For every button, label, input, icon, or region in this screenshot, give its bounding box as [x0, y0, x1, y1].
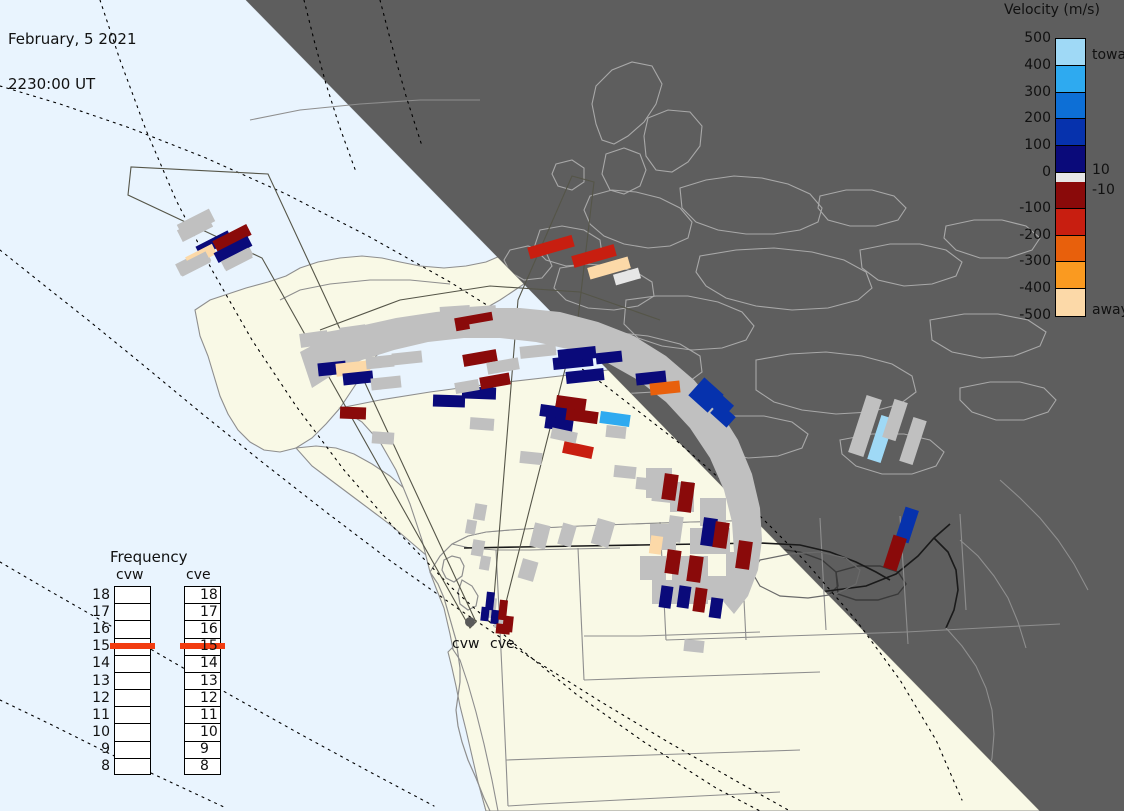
colorbar-band--450 — [1056, 289, 1085, 316]
colorbar-tick--300: -300 — [1019, 254, 1051, 268]
colorbar-tick--400: -400 — [1019, 281, 1051, 295]
frequency-label-right-13: 13 — [200, 674, 218, 688]
frequency-label-left-9: 9 — [88, 742, 110, 756]
frequency-label-right-9: 9 — [200, 742, 209, 756]
frequency-column-cvw[interactable] — [114, 586, 151, 775]
frequency-cell-cvw-16 — [115, 621, 150, 638]
station-label-cve: cve — [490, 636, 515, 652]
colorbar-tick--500: -500 — [1019, 308, 1051, 322]
frequency-cell-cvw-17 — [115, 604, 150, 621]
velocity-cell — [496, 623, 511, 634]
radar-station-marker[interactable] — [465, 617, 475, 627]
timestamp: February, 5 2021 2230:00 UT — [8, 2, 137, 122]
frequency-label-right-15: 15 — [200, 639, 218, 653]
frequency-label-right-12: 12 — [200, 691, 218, 705]
colorbar-tick-labels: 5004003002001000-100-200-300-400-500 — [995, 30, 1051, 326]
colorbar-band--50 — [1056, 182, 1085, 209]
frequency-legend-title: Frequency — [110, 548, 188, 566]
colorbar-negative-threshold: -10 — [1092, 183, 1115, 197]
colorbar-tick-500: 500 — [1024, 31, 1051, 45]
colorbar-tick-200: 200 — [1024, 111, 1051, 125]
frequency-label-right-8: 8 — [200, 759, 209, 773]
colorbar-tick-100: 100 — [1024, 138, 1051, 152]
colorbar-tick--200: -200 — [1019, 228, 1051, 242]
station-label-cvw: cvw — [452, 636, 479, 652]
frequency-label-left-8: 8 — [88, 759, 110, 773]
frequency-cell-cvw-8 — [115, 759, 150, 776]
frequency-cell-cvw-14 — [115, 656, 150, 673]
velocity-cell — [340, 407, 366, 420]
frequency-cell-cvw-12 — [115, 690, 150, 707]
superdarn-velocity-map: February, 5 2021 2230:00 UT Velocity (m/… — [0, 0, 1124, 811]
frequency-label-left-12: 12 — [88, 691, 110, 705]
colorbar-band--250 — [1056, 236, 1085, 263]
colorbar-tick-0: 0 — [1042, 165, 1051, 179]
frequency-cell-cvw-9 — [115, 742, 150, 759]
colorbar-band--150 — [1056, 209, 1085, 236]
colorbar-band--350 — [1056, 262, 1085, 289]
frequency-label-right-14: 14 — [200, 656, 218, 670]
frequency-marker-cvw — [110, 643, 155, 649]
colorbar-positive-threshold: 10 — [1092, 163, 1110, 177]
frequency-label-left-11: 11 — [88, 708, 110, 722]
frequency-label-right-16: 16 — [200, 622, 218, 636]
colorbar-band-350 — [1056, 66, 1085, 93]
frequency-label-right-10: 10 — [200, 725, 218, 739]
velocity-cell — [433, 394, 465, 407]
colorbar-tick-300: 300 — [1024, 85, 1051, 99]
velocity-cell — [480, 607, 489, 622]
frequency-label-left-17: 17 — [88, 605, 110, 619]
frequency-label-right-11: 11 — [200, 708, 218, 722]
colorbar-band-0 — [1056, 173, 1085, 182]
velocity-colorbar[interactable] — [1055, 38, 1086, 317]
frequency-column-header-cve: cve — [186, 567, 211, 583]
timestamp-time: 2230:00 UT — [8, 77, 137, 92]
colorbar-title: Velocity (m/s) — [1004, 2, 1100, 18]
colorbar-toward-label: toward — [1092, 48, 1124, 62]
colorbar-band-50 — [1056, 146, 1085, 173]
frequency-label-left-13: 13 — [88, 674, 110, 688]
frequency-label-left-15: 15 — [88, 639, 110, 653]
frequency-label-right-18: 18 — [200, 588, 218, 602]
frequency-label-right-17: 17 — [200, 605, 218, 619]
frequency-cell-cvw-10 — [115, 724, 150, 741]
frequency-cell-cvw-11 — [115, 707, 150, 724]
colorbar-away-label: away — [1092, 303, 1124, 317]
colorbar-band-150 — [1056, 119, 1085, 146]
frequency-label-left-16: 16 — [88, 622, 110, 636]
frequency-cell-cvw-18 — [115, 587, 150, 604]
colorbar-tick-400: 400 — [1024, 58, 1051, 72]
frequency-label-left-10: 10 — [88, 725, 110, 739]
timestamp-date: February, 5 2021 — [8, 32, 137, 47]
frequency-label-left-14: 14 — [88, 656, 110, 670]
velocity-cell — [649, 535, 663, 554]
colorbar-tick--100: -100 — [1019, 201, 1051, 215]
colorbar-band-450 — [1056, 39, 1085, 66]
frequency-column-header-cvw: cvw — [116, 567, 143, 583]
frequency-legend: Frequency cvw cve 18171615141312111098 1… — [88, 548, 238, 786]
frequency-label-left-18: 18 — [88, 588, 110, 602]
colorbar-band-250 — [1056, 93, 1085, 120]
frequency-cell-cvw-13 — [115, 673, 150, 690]
